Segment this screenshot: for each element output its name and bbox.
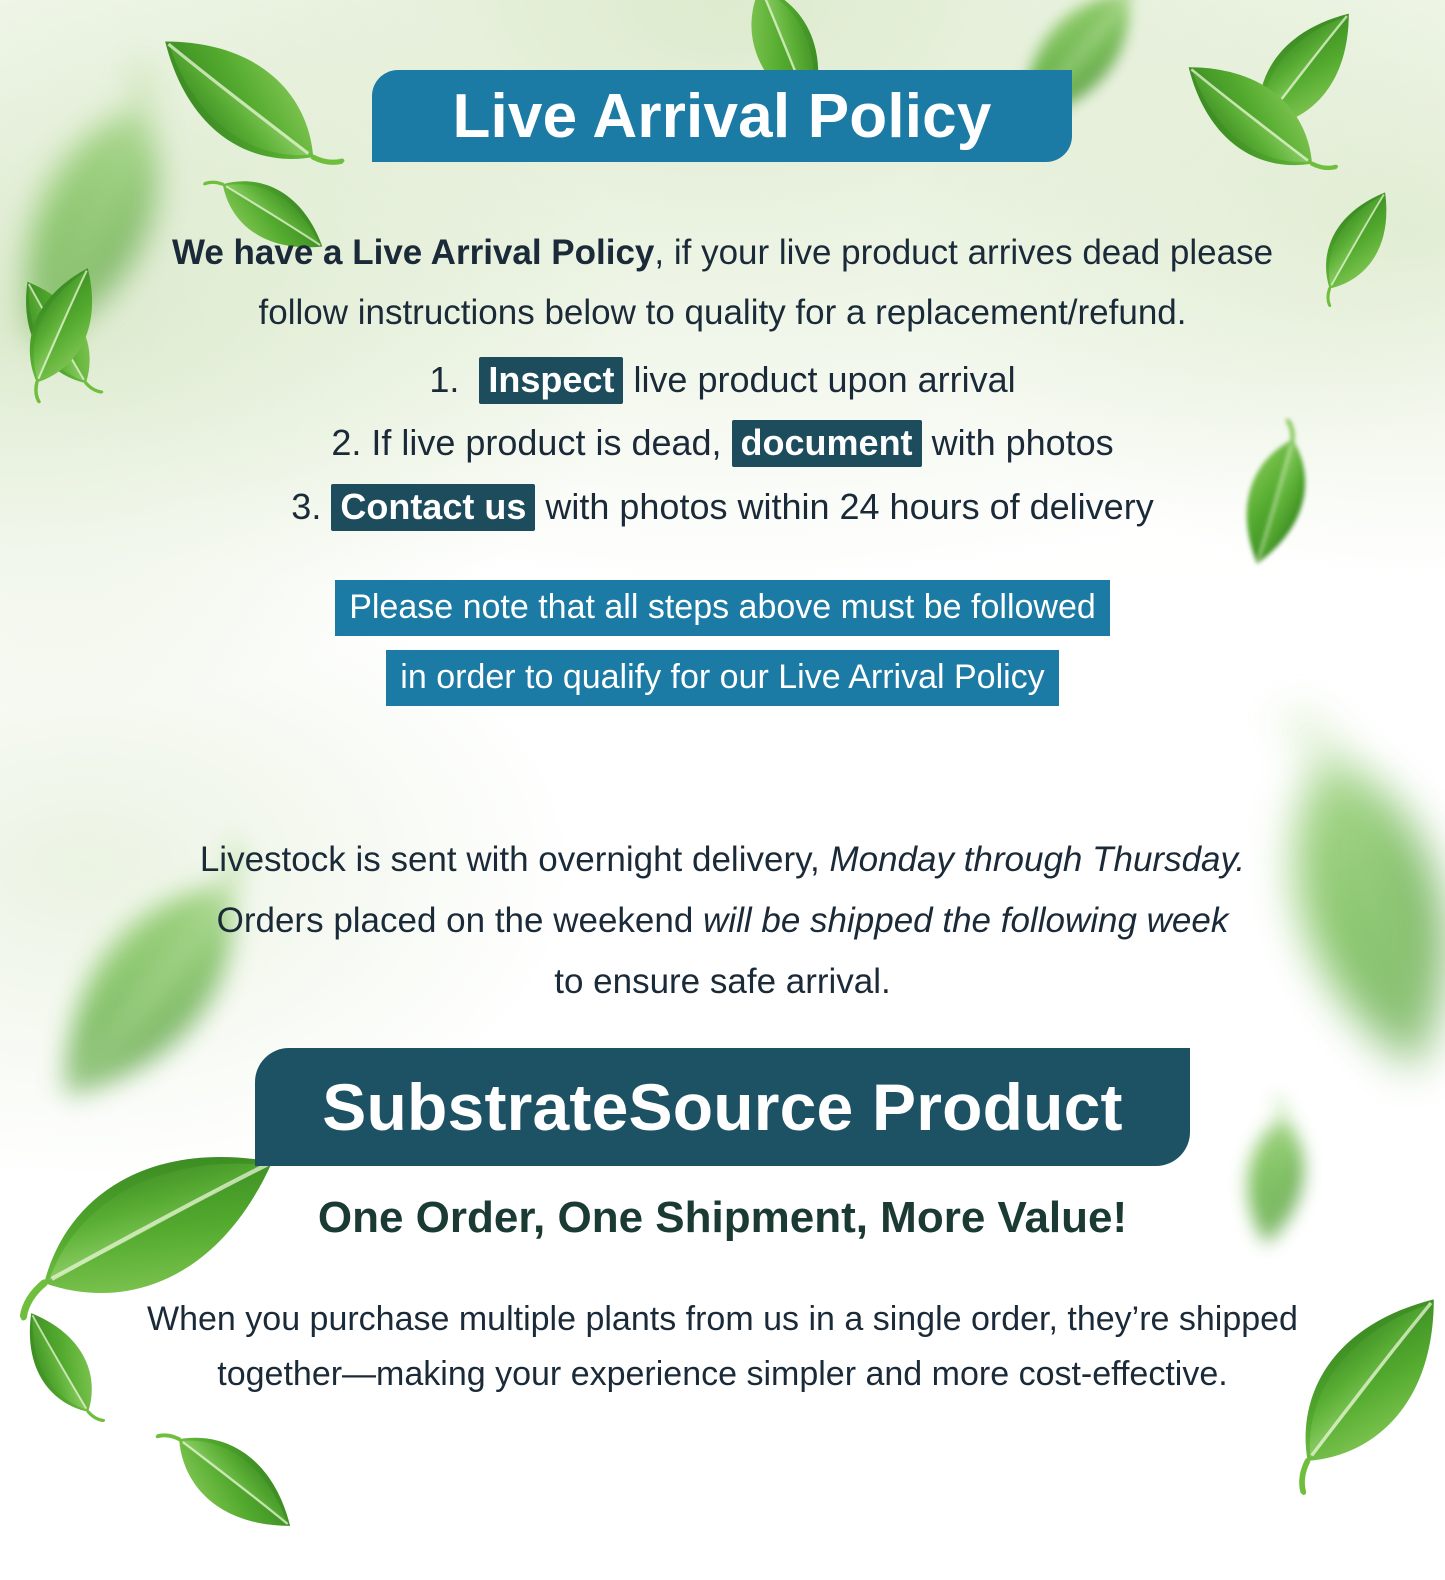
note-line-2: in order to qualify for our Live Arrival… bbox=[386, 650, 1058, 706]
shipping-line1-italic: Monday through Thursday. bbox=[829, 840, 1245, 879]
intro-paragraph: We have a Live Arrival Policy, if your l… bbox=[130, 223, 1315, 343]
note-line: Please note that all steps above must be… bbox=[160, 580, 1285, 636]
step-number: 1. bbox=[429, 359, 459, 400]
policy-note-block: Please note that all steps above must be… bbox=[160, 580, 1285, 720]
list-item: 3. Contact us with photos within 24 hour… bbox=[160, 475, 1285, 538]
list-item: 1. Inspect live product upon arrival bbox=[160, 348, 1285, 411]
step-number: 2. bbox=[331, 422, 361, 463]
shipping-paragraph: Livestock is sent with overnight deliver… bbox=[180, 830, 1265, 1013]
step-after: with photos bbox=[922, 422, 1114, 463]
policy-page: Live Arrival Policy We have a Live Arriv… bbox=[0, 0, 1445, 1445]
note-line-1: Please note that all steps above must be… bbox=[335, 580, 1110, 636]
shipping-line2-italic: will be shipped the following week bbox=[703, 901, 1228, 940]
step-after: live product upon arrival bbox=[623, 359, 1015, 400]
step-before: If live product is dead, bbox=[361, 422, 731, 463]
intro-lead-bold: We have a Live Arrival Policy bbox=[172, 233, 654, 272]
list-item: 2. If live product is dead, document wit… bbox=[160, 411, 1285, 474]
substrate-body-line2: together—making your experience simpler … bbox=[217, 1355, 1227, 1393]
step-highlight-document[interactable]: document bbox=[732, 420, 922, 467]
step-after: with photos within 24 hours of delivery bbox=[535, 486, 1153, 527]
shipping-line2-plain: Orders placed on the weekend bbox=[217, 901, 703, 940]
shipping-line1-plain: Livestock is sent with overnight deliver… bbox=[200, 840, 830, 879]
substrate-body: When you purchase multiple plants from u… bbox=[140, 1292, 1305, 1402]
substrate-subheading: One Order, One Shipment, More Value! bbox=[180, 1193, 1265, 1243]
note-line: in order to qualify for our Live Arrival… bbox=[160, 650, 1285, 706]
live-arrival-policy-banner: Live Arrival Policy bbox=[372, 70, 1072, 162]
step-before bbox=[321, 486, 331, 527]
shipping-line3-plain: to ensure safe arrival. bbox=[554, 962, 891, 1001]
step-number: 3. bbox=[291, 486, 321, 527]
substrate-body-line1: When you purchase multiple plants from u… bbox=[147, 1300, 1298, 1338]
steps-list: 1. Inspect live product upon arrival 2. … bbox=[160, 348, 1285, 538]
live-arrival-policy-title: Live Arrival Policy bbox=[452, 81, 991, 152]
step-highlight-contact-us[interactable]: Contact us bbox=[331, 484, 535, 531]
substrate-source-banner: SubstrateSource Product bbox=[255, 1048, 1190, 1166]
substrate-source-title: SubstrateSource Product bbox=[322, 1069, 1122, 1145]
step-highlight-inspect[interactable]: Inspect bbox=[479, 357, 623, 404]
